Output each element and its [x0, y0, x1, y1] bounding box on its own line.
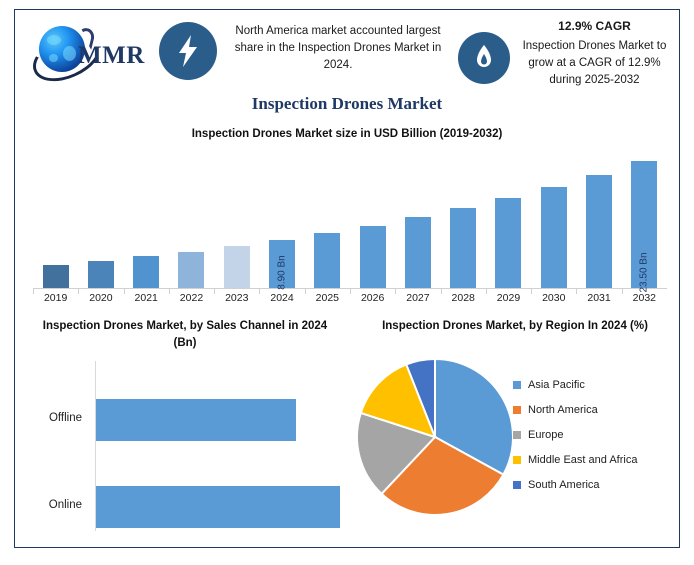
- north-america-note: North America market accounted largest s…: [221, 23, 455, 74]
- bar-x-label: 2021: [124, 292, 169, 304]
- cagr-note-block: 12.9% CAGR Inspection Drones Market to g…: [512, 18, 677, 89]
- bar-x-label: 2023: [214, 292, 259, 304]
- bar-column: 8.90 Bn: [259, 150, 304, 289]
- bar-column: [576, 150, 621, 289]
- horizontal-bar: [96, 486, 340, 528]
- bar-rect: [314, 233, 340, 288]
- bar-column: [214, 150, 259, 289]
- page-title: Inspection Drones Market: [15, 94, 679, 114]
- bar-column: 23.50 Bn: [622, 150, 667, 289]
- bar-column: [486, 150, 531, 289]
- bar-x-label: 2022: [169, 292, 214, 304]
- bar-column: [305, 150, 350, 289]
- bar-column: [78, 150, 123, 289]
- legend-label: Middle East and Africa: [528, 454, 637, 466]
- cagr-description: Inspection Drones Market to grow at a CA…: [523, 40, 667, 86]
- bar-value-label: 8.90 Bn: [277, 255, 288, 289]
- bar-x-label: 2019: [33, 292, 78, 304]
- bar-rect: [360, 226, 386, 288]
- bar-x-label: 2030: [531, 292, 576, 304]
- bar-chart-title: Inspection Drones Market size in USD Bil…: [15, 128, 679, 140]
- horizontal-bar: [96, 399, 296, 441]
- bar-chart-plot: 8.90 Bn23.50 Bn: [33, 150, 667, 289]
- bar-column: [124, 150, 169, 289]
- legend-swatch: [513, 406, 521, 414]
- bar-column: [33, 150, 78, 289]
- bar-x-label: 2020: [78, 292, 123, 304]
- legend-item: North America: [513, 397, 637, 422]
- pie-chart-legend: Asia PacificNorth AmericaEuropeMiddle Ea…: [513, 372, 637, 497]
- bar-x-label: 2032: [622, 292, 667, 304]
- market-size-bar-chart: Inspection Drones Market size in USD Bil…: [15, 128, 679, 310]
- bar-rect: [586, 175, 612, 288]
- header-band: MMR North America market accounted large…: [15, 10, 679, 96]
- region-pie-chart: Inspection Drones Market, by Region In 2…: [345, 318, 679, 542]
- sales-channel-bar-chart: Inspection Drones Market, by Sales Chann…: [21, 318, 351, 542]
- bar-rect: [224, 246, 250, 288]
- bar-column: [531, 150, 576, 289]
- bar-x-label: 2026: [350, 292, 395, 304]
- bar-x-label: 2025: [305, 292, 350, 304]
- pie-chart-title: Inspection Drones Market, by Region In 2…: [365, 318, 665, 335]
- legend-swatch: [513, 431, 521, 439]
- bar-x-label: 2031: [576, 292, 621, 304]
- bar-column: [441, 150, 486, 289]
- cagr-value: 12.9% CAGR: [512, 18, 677, 36]
- bar-rect: [495, 198, 521, 288]
- horizontal-bar-label: Offline: [49, 412, 82, 424]
- bar-x-label: 2029: [486, 292, 531, 304]
- legend-item: South America: [513, 472, 637, 497]
- bar-rect: [133, 256, 159, 288]
- bar-rect: [43, 265, 69, 288]
- mmr-logo: MMR: [29, 18, 154, 80]
- bar-rect: [541, 187, 567, 288]
- flame-icon: [458, 32, 510, 84]
- bar-chart-x-axis-labels: 2019202020212022202320242025202620272028…: [33, 292, 667, 308]
- bar-x-label: 2027: [395, 292, 440, 304]
- legend-label: Asia Pacific: [528, 379, 585, 391]
- legend-item: Europe: [513, 422, 637, 447]
- infographic-frame: MMR North America market accounted large…: [14, 9, 680, 548]
- horizontal-bar-label: Online: [49, 499, 82, 511]
- bar-rect: 8.90 Bn: [269, 240, 295, 288]
- legend-label: North America: [528, 404, 598, 416]
- bar-x-label: 2024: [259, 292, 304, 304]
- legend-item: Asia Pacific: [513, 372, 637, 397]
- lightning-bolt-icon: [159, 22, 217, 80]
- legend-label: South America: [528, 479, 600, 491]
- sales-chart-title: Inspection Drones Market, by Sales Chann…: [35, 318, 335, 351]
- bar-rect: [405, 217, 431, 288]
- legend-swatch: [513, 456, 521, 464]
- bar-value-label: 23.50 Bn: [639, 252, 650, 292]
- bar-rect: [88, 261, 114, 288]
- bar-rect: 23.50 Bn: [631, 161, 657, 288]
- bar-rect: [450, 208, 476, 288]
- logo-text: MMR: [78, 42, 145, 70]
- legend-label: Europe: [528, 429, 563, 441]
- pie-chart-graphic: [355, 356, 515, 518]
- bar-column: [169, 150, 214, 289]
- bar-x-label: 2028: [441, 292, 486, 304]
- bar-rect: [178, 252, 204, 288]
- legend-swatch: [513, 481, 521, 489]
- legend-item: Middle East and Africa: [513, 447, 637, 472]
- sales-chart-plot: OfflineOnline: [95, 361, 340, 531]
- bar-column: [350, 150, 395, 289]
- legend-swatch: [513, 381, 521, 389]
- bar-column: [395, 150, 440, 289]
